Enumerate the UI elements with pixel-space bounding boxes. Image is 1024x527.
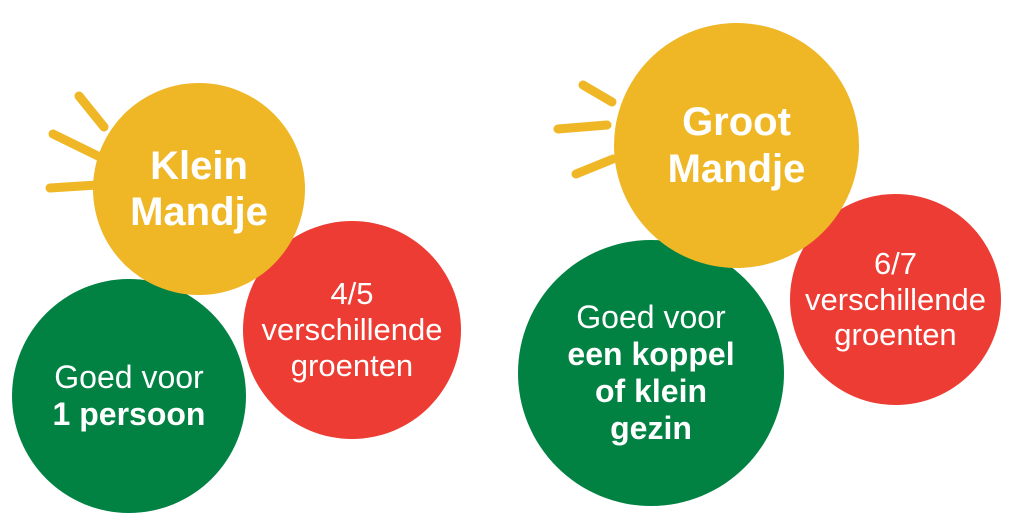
title-text-groot: Groot Mandje bbox=[614, 99, 859, 192]
audience-line1-groot: Goed voor bbox=[524, 299, 778, 336]
infographic-canvas: 4/5 verschillende groenten Goed voor 1 p… bbox=[0, 0, 1024, 527]
variety-label-line2-groot: groenten bbox=[796, 317, 995, 353]
audience-line1-klein: Goed voor bbox=[18, 359, 240, 396]
audience-text-groot: Goed voor een koppel of klein gezin bbox=[518, 299, 784, 447]
sun-rays-icon bbox=[22, 72, 132, 202]
audience-bubble-klein: Goed voor 1 persoon bbox=[12, 279, 246, 513]
variety-label-line2-klein: groenten bbox=[249, 348, 455, 384]
audience-text-klein: Goed voor 1 persoon bbox=[12, 359, 246, 433]
audience-line2-klein: 1 persoon bbox=[18, 396, 240, 433]
audience-bubble-groot: Goed voor een koppel of klein gezin bbox=[518, 240, 784, 506]
basket-option-klein-mandje: 4/5 verschillende groenten Goed voor 1 p… bbox=[0, 0, 512, 527]
audience-line3-groot: of klein bbox=[524, 373, 778, 410]
audience-line4-groot: gezin bbox=[524, 410, 778, 447]
title-line1-groot: Groot bbox=[620, 99, 853, 145]
variety-text-groot: 6/7 verschillende groenten bbox=[790, 246, 1001, 354]
title-line2-groot: Mandje bbox=[620, 146, 853, 192]
variety-label-line1-groot: verschillende bbox=[796, 282, 995, 318]
audience-line2-groot: een koppel bbox=[524, 336, 778, 373]
basket-option-groot-mandje: 6/7 verschillende groenten Goed voor een… bbox=[512, 0, 1024, 527]
title-bubble-groot: Groot Mandje bbox=[614, 23, 859, 268]
sun-rays-icon bbox=[540, 62, 650, 182]
variety-text-klein: 4/5 verschillende groenten bbox=[243, 276, 461, 384]
variety-label-line1-klein: verschillende bbox=[249, 312, 455, 348]
variety-count-groot: 6/7 bbox=[796, 246, 995, 282]
variety-count-klein: 4/5 bbox=[249, 276, 455, 312]
